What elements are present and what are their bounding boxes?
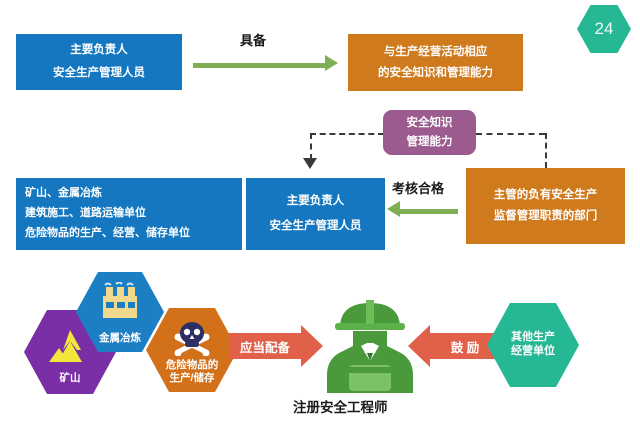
middle-left-line-3: 危险物品的生产、经营、储存单位 — [25, 226, 190, 242]
slide-number: 24 — [595, 19, 614, 39]
safety-knowledge-pill: 安全知识 管理能力 — [383, 110, 476, 155]
hexagon-danger-label-2: 生产/储存 — [146, 372, 238, 385]
pill-line-1: 安全知识 — [407, 115, 453, 132]
arrow-label-jubei: 具备 — [240, 30, 266, 49]
arrow-should-equip: 应当配备 — [229, 325, 323, 367]
pill-line-2: 管理能力 — [407, 134, 453, 151]
middle-left-line-2: 建筑施工、道路运输单位 — [25, 206, 146, 222]
supervising-department-box: 主管的负有安全生产 监督管理职责的部门 — [466, 168, 625, 244]
top-right-knowledge-box: 与生产经营活动相应 的安全知识和管理能力 — [348, 34, 523, 91]
dept-line-1: 主管的负有安全生产 — [494, 187, 598, 204]
top-right-line-2: 的安全知识和管理能力 — [378, 65, 493, 82]
hexagon-other-units: 其他生产 经营单位 — [487, 303, 579, 387]
dashed-arrow-head-icon — [303, 158, 317, 169]
dashed-connector-down-left — [310, 133, 312, 160]
middle-right-personnel-box: 主要负责人 安全生产管理人员 — [246, 178, 385, 250]
top-left-line-2: 安全生产管理人员 — [53, 65, 145, 82]
middle-left-units-box: 矿山、金属冶炼 建筑施工、道路运输单位 危险物品的生产、经营、储存单位 — [16, 178, 242, 250]
middle-right-line-1: 主要负责人 — [287, 193, 345, 210]
dashed-connector-down-right — [545, 133, 547, 168]
green-arrow-middle-shaft — [400, 209, 458, 214]
hexagon-danger-label-1: 危险物品的 — [146, 359, 238, 372]
hexagon-dangerous-goods: 危险物品的 生产/储存 — [146, 308, 238, 392]
middle-right-line-2: 安全生产管理人员 — [270, 218, 362, 235]
safety-engineer-icon — [315, 283, 425, 393]
dashed-connector-right — [476, 133, 545, 135]
green-arrow-top-head-icon — [325, 55, 338, 71]
top-left-responsible-person-box: 主要负责人 安全生产管理人员 — [16, 34, 182, 90]
arrow-should-equip-label: 应当配备 — [229, 333, 301, 359]
middle-left-line-1: 矿山、金属冶炼 — [25, 186, 102, 202]
green-arrow-top-shaft — [193, 63, 326, 68]
hexagon-mine-label: 矿山 — [24, 372, 116, 385]
diagram-canvas: 24 主要负责人 安全生产管理人员 具备 与生产经营活动相应 的安全知识和管理能… — [0, 0, 640, 443]
top-right-line-1: 与生产经营活动相应 — [384, 44, 488, 61]
top-left-line-1: 主要负责人 — [70, 42, 128, 59]
slide-number-badge: 24 — [577, 5, 631, 53]
skull-crossbones-icon — [146, 320, 238, 356]
factory-icon — [76, 282, 164, 320]
arrow-label-kaohe: 考核合格 — [392, 178, 444, 197]
engineer-label: 注册安全工程师 — [293, 396, 388, 416]
dashed-connector-left — [310, 133, 384, 135]
green-arrow-middle-head-icon — [387, 201, 400, 217]
hexagon-other-label-2: 经营单位 — [487, 345, 579, 359]
hexagon-other-label-1: 其他生产 — [487, 331, 579, 345]
dept-line-2: 监督管理职责的部门 — [494, 208, 598, 225]
